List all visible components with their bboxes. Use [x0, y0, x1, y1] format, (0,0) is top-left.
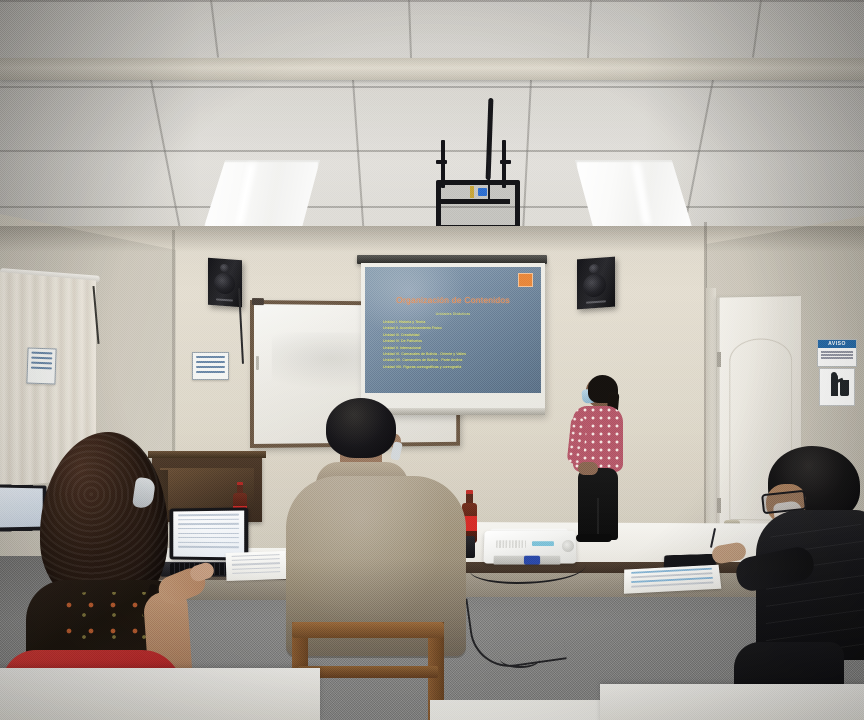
- floor-cable-loop: [500, 650, 540, 668]
- speaker-badge: [216, 298, 233, 301]
- wall-speaker-left: [208, 258, 242, 307]
- wall-notice-left: [26, 348, 56, 385]
- projection-screen: Organización de Contenidos Unidades Didá…: [361, 263, 545, 415]
- projector-vent: [496, 540, 526, 548]
- student-center-hair: [326, 398, 396, 458]
- foreground-desk-center: [430, 700, 620, 720]
- ceiling: [0, 0, 864, 232]
- wall-top-shadow: [0, 226, 864, 252]
- slide-unit-item: Unidad VIII. Figuras coreográficas y cor…: [383, 364, 533, 370]
- presenter-shoes: [576, 534, 612, 542]
- slide-unit-list: Unidad I. Historia y Teoría Unidad II. A…: [383, 319, 533, 370]
- door-frame: [706, 288, 716, 553]
- projector-brand-strip: [532, 541, 554, 546]
- door-hinge-upper: [717, 352, 721, 367]
- projector-mount-wire-yellow: [470, 186, 474, 198]
- presenter-hands: [578, 462, 598, 475]
- speaker-tweeter-icon: [589, 264, 599, 274]
- printed-handout-right[interactable]: [624, 565, 721, 594]
- door-hinge-lower: [717, 498, 721, 513]
- printed-handout-left[interactable]: [226, 551, 287, 581]
- speaker-tweeter-icon: [220, 264, 229, 273]
- recycling-pictogram-sign: [819, 368, 855, 406]
- foreground-desk-right: [600, 684, 864, 720]
- speaker-badge: [586, 300, 606, 303]
- classroom-photo: AVISO Organización de Contenidos Unidad: [0, 0, 864, 720]
- pictogram-person-icon: [831, 374, 838, 396]
- aviso-sign-body: [818, 348, 856, 359]
- speaker-woofer-icon: [583, 273, 606, 298]
- slide-logo-icon: [518, 273, 533, 287]
- pictogram-bin-icon: [840, 380, 849, 396]
- wall-speaker-right: [577, 257, 615, 310]
- aviso-sign-header: AVISO: [818, 340, 856, 348]
- foreground-desk-left: [0, 668, 320, 720]
- student-right: [740, 446, 864, 720]
- projector-mount-wire-blue: [478, 188, 487, 196]
- wall-notice-board: [192, 352, 229, 380]
- presentation-slide: Organización de Contenidos Unidades Didá…: [365, 267, 541, 393]
- projector-mount-knob-left: [436, 160, 447, 164]
- aviso-sign: AVISO: [817, 339, 857, 367]
- chair-rail-top: [292, 622, 444, 638]
- slide-subtitle: Unidades Didácticas: [365, 312, 541, 316]
- projector-mount-knob-right: [500, 160, 511, 164]
- slide-title: Organización de Contenidos: [365, 295, 541, 305]
- presenter: [566, 378, 642, 540]
- whiteboard-marker: [256, 356, 259, 370]
- ceiling-shadow-left: [0, 0, 200, 232]
- whiteboard-clip: [252, 298, 264, 305]
- speaker-woofer-icon: [214, 272, 235, 294]
- projector-lens-icon: [562, 540, 574, 552]
